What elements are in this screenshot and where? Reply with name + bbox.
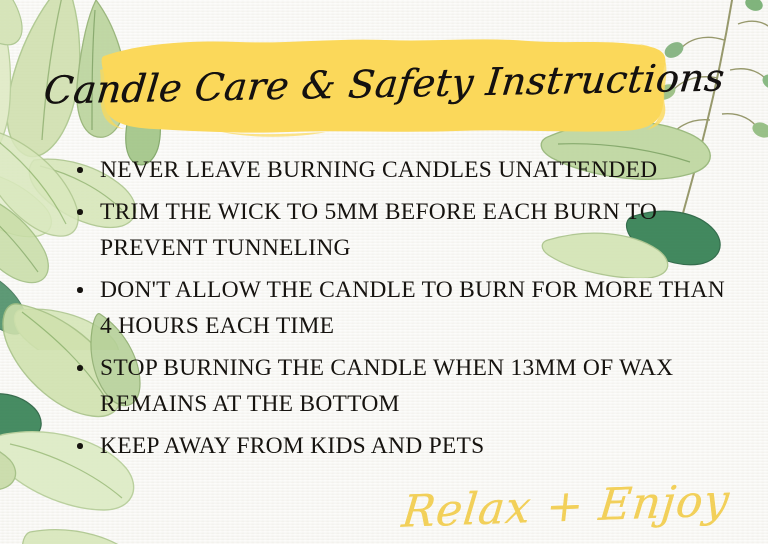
- list-item: Trim the wick to 5mm before each burn to…: [70, 194, 742, 266]
- candle-care-card: Candle Care & Safety Instructions Never …: [0, 0, 768, 544]
- instructions-list: Never leave burning candles unattended T…: [70, 152, 742, 470]
- list-item: Never leave burning candles unattended: [70, 152, 742, 188]
- list-item: Keep away from kids and pets: [70, 428, 742, 464]
- list-item: Don't allow the candle to burn for more …: [70, 272, 742, 344]
- title-banner: Candle Care & Safety Instructions: [98, 30, 670, 142]
- list-item: Stop burning the candle when 13mm of wax…: [70, 350, 742, 422]
- page-title: Candle Care & Safety Instructions: [92, 24, 675, 147]
